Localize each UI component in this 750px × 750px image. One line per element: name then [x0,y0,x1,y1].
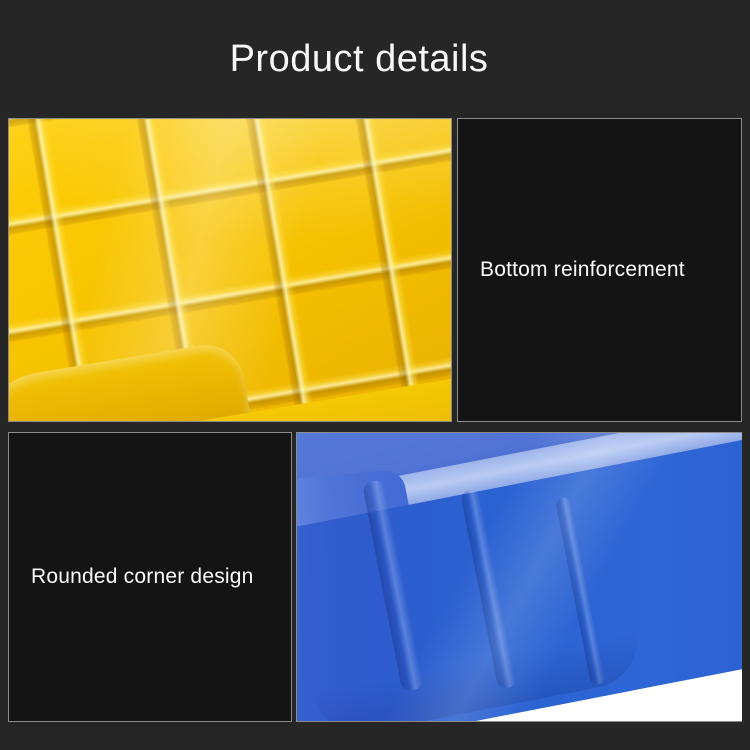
page-header: Product details [0,0,750,118]
page-title: Product details [230,38,489,81]
caption-label-rounded-corner: Rounded corner design [9,565,254,589]
caption-label-bottom-reinforcement: Bottom reinforcement [458,258,685,282]
blue-crate-photo [297,433,742,721]
photo-panel-rounded-corner[interactable] [296,432,742,722]
blue-crate-gloss [297,433,742,721]
yellow-crate-photo [9,119,451,421]
photo-panel-bottom-reinforcement[interactable] [8,118,452,422]
caption-panel-rounded-corner[interactable]: Rounded corner design [8,432,292,722]
product-details-page: Product details Bottom reinforcement Rou… [0,0,750,750]
caption-panel-bottom-reinforcement[interactable]: Bottom reinforcement [457,118,742,422]
